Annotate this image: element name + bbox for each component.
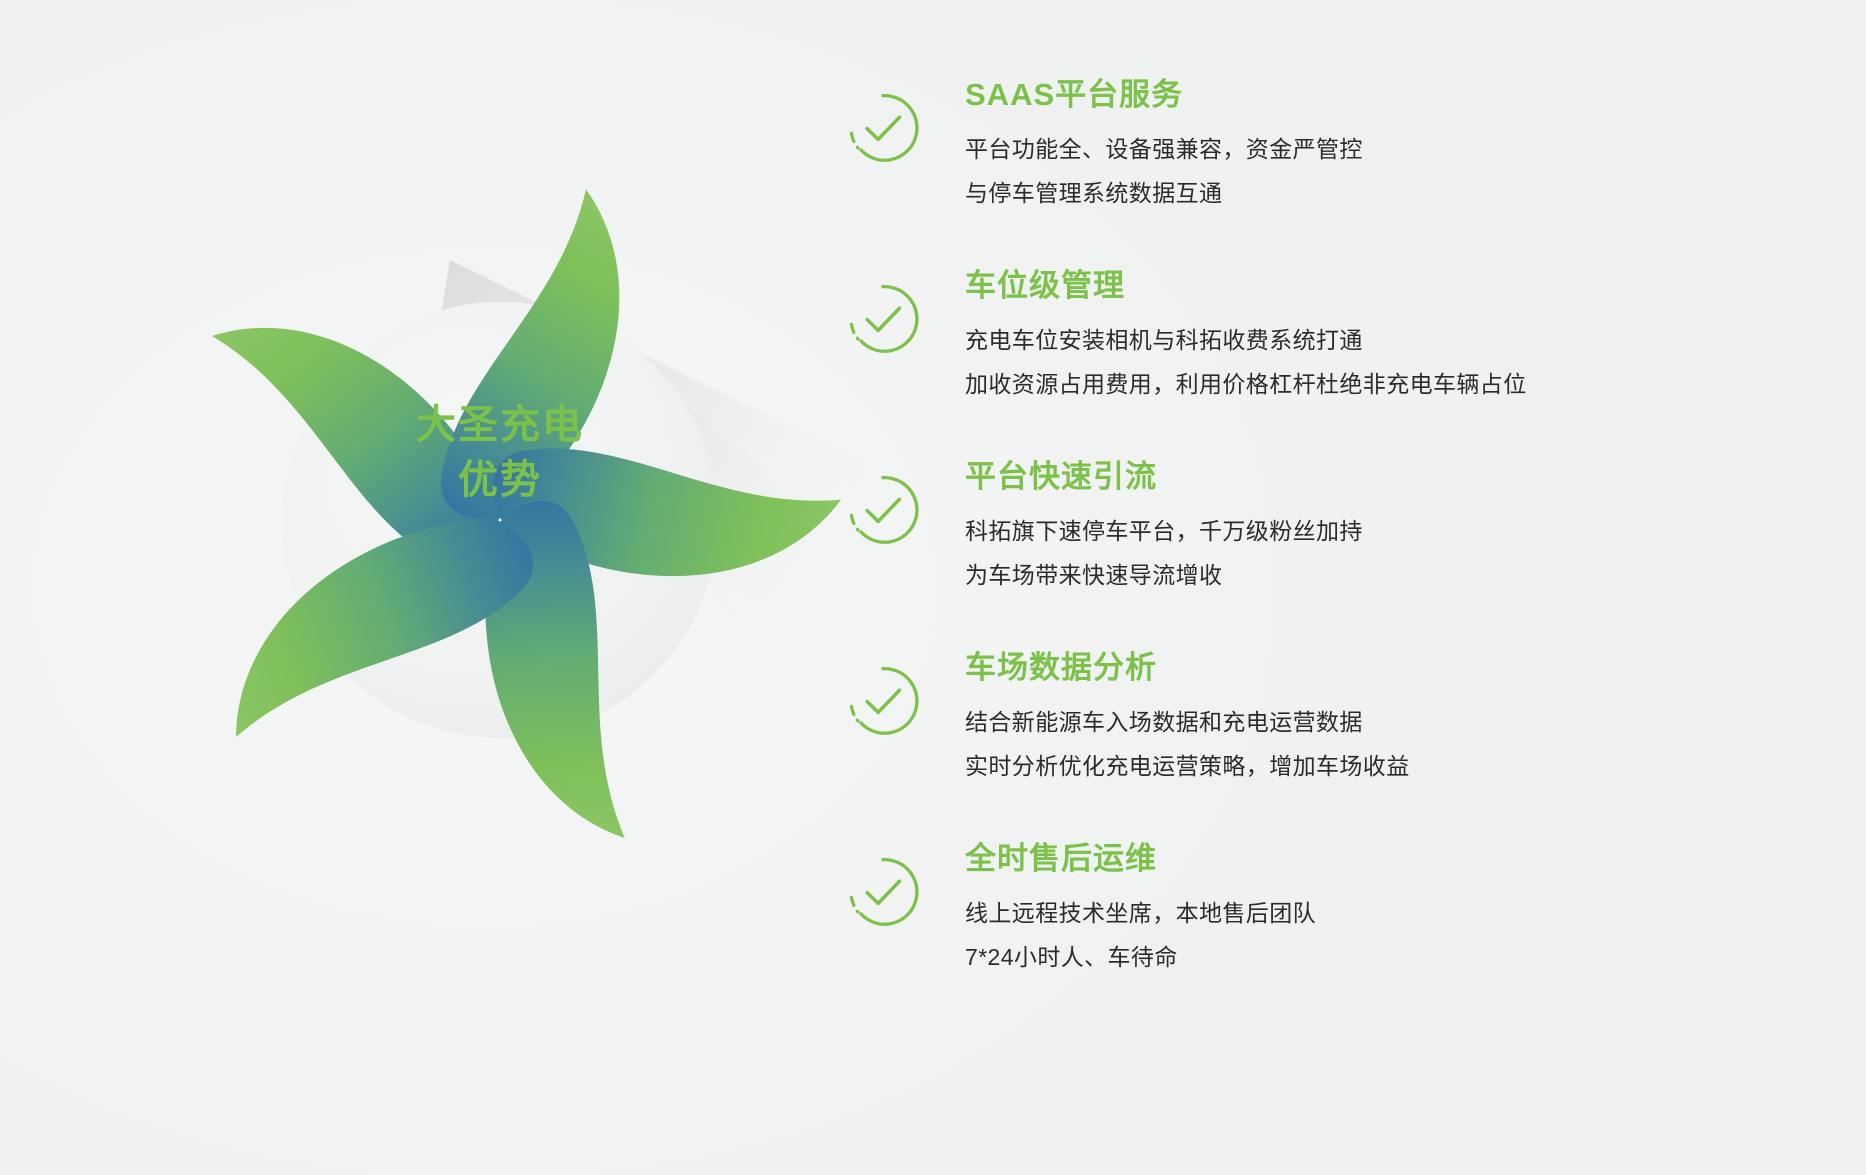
feature-text: 平台快速引流 科拓旗下速停车平台，千万级粉丝加持 为车场带来快速导流增收 [965, 456, 1825, 597]
feature-text: SAAS平台服务 平台功能全、设备强兼容，资金严管控 与停车管理系统数据互通 [965, 74, 1825, 215]
feature-line: 实时分析优化充电运营策略，增加车场收益 [965, 744, 1825, 788]
feature-item: SAAS平台服务 平台功能全、设备强兼容，资金严管控 与停车管理系统数据互通 [845, 74, 1825, 215]
feature-item: 平台快速引流 科拓旗下速停车平台，千万级粉丝加持 为车场带来快速导流增收 [845, 456, 1825, 597]
feature-item: 车场数据分析 结合新能源车入场数据和充电运营数据 实时分析优化充电运营策略，增加… [845, 647, 1825, 788]
infographic-canvas: 大圣充电 优势 SAAS平台服务 平台功能全、设备强兼容，资金严管控 与停车管理… [0, 0, 1866, 1175]
check-circle-icon [845, 90, 921, 166]
feature-description: 线上远程技术坐席，本地售后团队 7*24小时人、车待命 [965, 891, 1825, 979]
feature-description: 充电车位安装相机与科拓收费系统打通 加收资源占用费用，利用价格杠杆杜绝非充电车辆… [965, 318, 1825, 406]
check-circle-icon [845, 281, 921, 357]
feature-line: 与停车管理系统数据互通 [965, 171, 1825, 215]
feature-description: 科拓旗下速停车平台，千万级粉丝加持 为车场带来快速导流增收 [965, 509, 1825, 597]
feature-title: 车场数据分析 [965, 649, 1825, 688]
feature-line: 结合新能源车入场数据和充电运营数据 [965, 700, 1825, 744]
feature-description: 平台功能全、设备强兼容，资金严管控 与停车管理系统数据互通 [965, 127, 1825, 215]
feature-line: 7*24小时人、车待命 [965, 935, 1825, 979]
feature-item: 车位级管理 充电车位安装相机与科拓收费系统打通 加收资源占用费用，利用价格杠杆杜… [845, 265, 1825, 406]
feature-line: 科拓旗下速停车平台，千万级粉丝加持 [965, 509, 1825, 553]
feature-line: 充电车位安装相机与科拓收费系统打通 [965, 318, 1825, 362]
feature-line: 加收资源占用费用，利用价格杠杆杜绝非充电车辆占位 [965, 362, 1825, 406]
feature-line: 为车场带来快速导流增收 [965, 553, 1825, 597]
feature-title: 全时售后运维 [965, 840, 1825, 879]
check-circle-icon [845, 854, 921, 930]
feature-title: 平台快速引流 [965, 458, 1825, 497]
feature-line: 平台功能全、设备强兼容，资金严管控 [965, 127, 1825, 171]
feature-title: SAAS平台服务 [965, 76, 1825, 115]
feature-text: 车场数据分析 结合新能源车入场数据和充电运营数据 实时分析优化充电运营策略，增加… [965, 647, 1825, 788]
feature-list: SAAS平台服务 平台功能全、设备强兼容，资金严管控 与停车管理系统数据互通 车… [845, 74, 1825, 979]
check-circle-icon [845, 472, 921, 548]
feature-line: 线上远程技术坐席，本地售后团队 [965, 891, 1825, 935]
feature-text: 全时售后运维 线上远程技术坐席，本地售后团队 7*24小时人、车待命 [965, 838, 1825, 979]
brand-logo-block: 大圣充电 优势 [120, 140, 880, 900]
feature-title: 车位级管理 [965, 267, 1825, 306]
feature-description: 结合新能源车入场数据和充电运营数据 实时分析优化充电运营策略，增加车场收益 [965, 700, 1825, 788]
feature-item: 全时售后运维 线上远程技术坐席，本地售后团队 7*24小时人、车待命 [845, 838, 1825, 979]
check-circle-icon [845, 663, 921, 739]
pinwheel-logo-icon [120, 140, 880, 900]
feature-text: 车位级管理 充电车位安装相机与科拓收费系统打通 加收资源占用费用，利用价格杠杆杜… [965, 265, 1825, 406]
